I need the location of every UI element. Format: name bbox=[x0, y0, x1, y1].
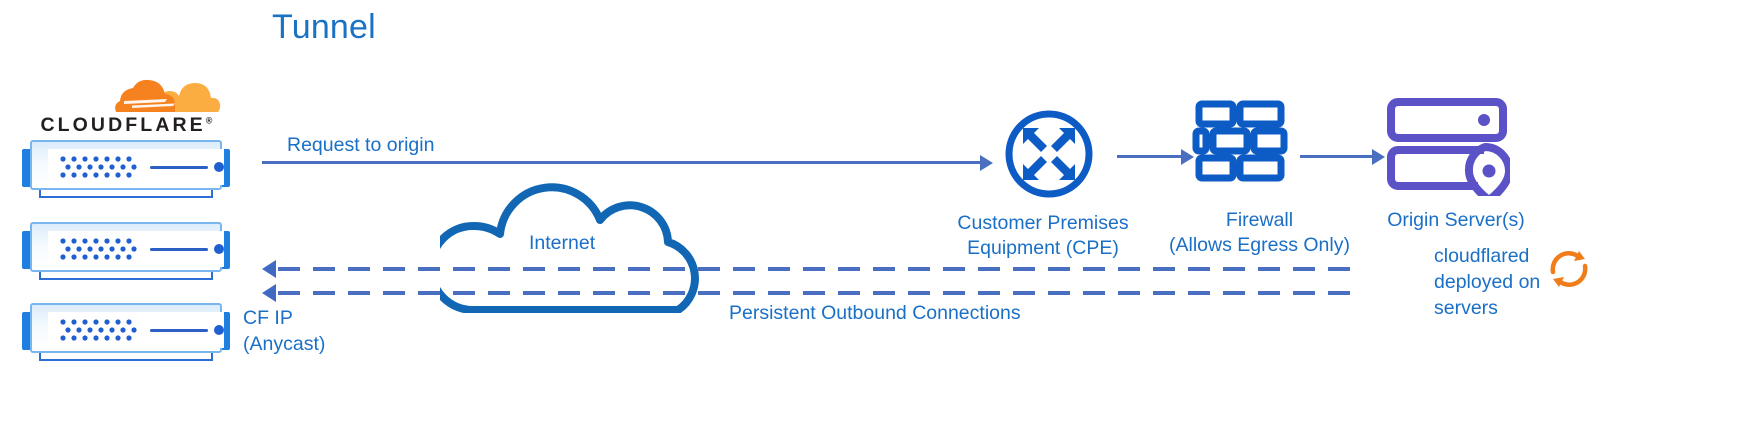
cloudflare-logo: CLOUDFLARE® bbox=[28, 78, 228, 140]
cpe-label-line2: Equipment (CPE) bbox=[947, 236, 1139, 261]
tunnel-architecture-diagram: Tunnel CLOUDFLARE® bbox=[0, 0, 1754, 422]
cloudflare-wordmark: CLOUDFLARE® bbox=[28, 114, 228, 137]
firewall-to-origin-line bbox=[1300, 155, 1372, 158]
server-status-line bbox=[150, 166, 208, 169]
cloudflare-edge-server-1[interactable] bbox=[22, 140, 230, 198]
server-shelf bbox=[39, 190, 213, 198]
server-vent-dots-icon bbox=[60, 156, 146, 180]
persistent-connection-line-1 bbox=[278, 267, 1360, 271]
firewall-to-origin-arrowhead bbox=[1372, 149, 1385, 165]
origin-servers-label: Origin Server(s) bbox=[1377, 208, 1535, 233]
brick-wall-icon[interactable] bbox=[1192, 98, 1288, 188]
server-vent-dots-icon bbox=[60, 238, 146, 262]
server-shelf bbox=[39, 272, 213, 280]
request-to-origin-label: Request to origin bbox=[287, 133, 434, 158]
cf-ip-anycast-label: CF IP (Anycast) bbox=[243, 305, 393, 357]
cloudflare-trademark: ® bbox=[206, 116, 216, 126]
server-status-line bbox=[150, 248, 208, 251]
server-led-icon bbox=[214, 162, 224, 172]
server-body bbox=[30, 140, 222, 190]
persistent-connection-arrowhead-1 bbox=[262, 260, 276, 278]
server-shelf bbox=[39, 353, 213, 361]
cloud-outline-icon bbox=[440, 138, 730, 313]
internet-label: Internet bbox=[529, 231, 595, 256]
cf-ip-line2: (Anycast) bbox=[243, 331, 393, 357]
cloudflared-note-label: cloudflared deployed on servers bbox=[1434, 243, 1564, 321]
server-body bbox=[30, 222, 222, 272]
server-status-line bbox=[150, 329, 208, 332]
cpe-label-line1: Customer Premises bbox=[947, 211, 1139, 236]
server-led-icon bbox=[214, 244, 224, 254]
server-vent-dots-icon bbox=[60, 319, 146, 343]
server-location-pin-icon[interactable] bbox=[1386, 96, 1510, 196]
persistent-connection-line-2 bbox=[278, 291, 1360, 295]
firewall-label-line1: Firewall bbox=[1157, 208, 1362, 233]
server-body bbox=[30, 303, 222, 353]
cpe-to-firewall-line bbox=[1117, 155, 1181, 158]
request-to-origin-arrowhead bbox=[980, 155, 993, 171]
persistent-outbound-connections-label: Persistent Outbound Connections bbox=[729, 301, 1021, 326]
firewall-label: Firewall (Allows Egress Only) bbox=[1157, 208, 1362, 258]
router-arrows-circle-icon[interactable] bbox=[1003, 108, 1095, 200]
cf-ip-line1: CF IP bbox=[243, 305, 393, 331]
cpe-label: Customer Premises Equipment (CPE) bbox=[947, 211, 1139, 261]
diagram-title: Tunnel bbox=[272, 8, 376, 47]
server-led-icon bbox=[214, 325, 224, 335]
cloudflare-cloud-icon bbox=[28, 74, 228, 114]
firewall-label-line2: (Allows Egress Only) bbox=[1157, 233, 1362, 258]
cloudflare-wordmark-text: CLOUDFLARE bbox=[40, 114, 205, 136]
cloudflare-edge-server-2[interactable] bbox=[22, 222, 230, 280]
persistent-connection-arrowhead-2 bbox=[262, 284, 276, 302]
cloudflare-edge-server-3[interactable] bbox=[22, 303, 230, 361]
